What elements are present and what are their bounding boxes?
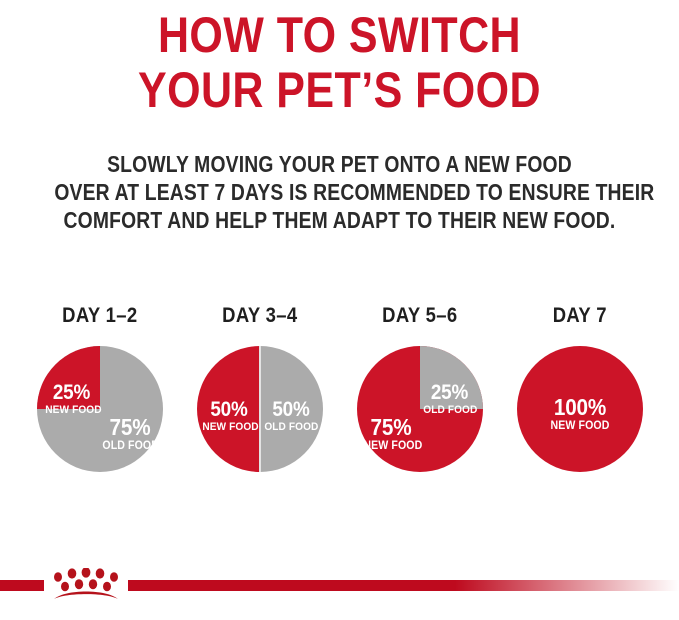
pie-group-day-7: DAY 7 100% NEW FOOD	[500, 305, 660, 472]
pie-group-day-5-6: DAY 5–6 25% OLD FOOD 75% NEW FOOD	[340, 305, 500, 472]
subtitle-line-2: OVER AT LEAST 7 DAYS IS RECOMMENDED TO E…	[54, 178, 624, 206]
pie-group-day-3-4: DAY 3–4 50% NEW FOOD 50% OLD FOOD	[180, 305, 340, 472]
slice-food: OLD FOOD	[102, 441, 157, 453]
pie-slice-label-new-food: 75% NEW FOOD	[361, 416, 421, 453]
pie-group-day-1-2: DAY 1–2 25% NEW FOOD 75% OLD FOOD	[20, 305, 180, 472]
slice-percent: 50%	[202, 399, 254, 420]
royal-canin-crown-icon	[46, 568, 126, 602]
day-label-3: DAY 5–6	[382, 305, 457, 327]
title-line-1: HOW TO SWITCH	[48, 8, 632, 63]
slice-percent: 75%	[103, 416, 157, 439]
slice-food: NEW FOOD	[202, 422, 255, 433]
slice-food: NEW FOOD	[45, 405, 97, 416]
slice-food: OLD FOOD	[423, 405, 475, 416]
slice-food: NEW FOOD	[543, 421, 617, 433]
pie-slice-label-new-food: 100% NEW FOOD	[540, 396, 620, 433]
pie-slice-label-old-food: 25% OLD FOOD	[421, 382, 478, 416]
slice-food: OLD FOOD	[264, 422, 317, 433]
day-label-4: DAY 7	[552, 305, 606, 327]
pie-slice-label-old-food: 50% OLD FOOD	[262, 399, 320, 433]
pie-chart-day-1-2: 25% NEW FOOD 75% OLD FOOD	[37, 346, 163, 472]
page-title: HOW TO SWITCH YOUR PET’S FOOD	[0, 8, 679, 118]
title-line-2: YOUR PET’S FOOD	[48, 63, 632, 118]
slice-percent: 75%	[364, 416, 418, 439]
pie-slice-label-old-food: 75% OLD FOOD	[100, 416, 160, 453]
slice-percent: 50%	[264, 399, 316, 420]
slice-percent: 25%	[45, 382, 96, 403]
pie-slice-label-new-food: 50% NEW FOOD	[200, 399, 258, 433]
slice-food: NEW FOOD	[363, 441, 418, 453]
pie-chart-day-5-6: 25% OLD FOOD 75% NEW FOOD	[357, 346, 483, 472]
subtitle: SLOWLY MOVING YOUR PET ONTO A NEW FOOD O…	[0, 150, 679, 234]
footer	[0, 568, 679, 602]
pie-chart-day-7: 100% NEW FOOD	[517, 346, 643, 472]
pie-chart-day-3-4: 50% NEW FOOD 50% OLD FOOD	[197, 346, 323, 472]
infographic-page: { "title": { "line1": "HOW TO SWITCH", "…	[0, 0, 679, 620]
pie-chart-row: DAY 1–2 25% NEW FOOD 75% OLD FOOD DAY 3–…	[0, 305, 679, 485]
day-label-1: DAY 1–2	[62, 305, 137, 327]
subtitle-line-1: SLOWLY MOVING YOUR PET ONTO A NEW FOOD	[54, 150, 624, 178]
pie-slice-label-new-food: 25% NEW FOOD	[43, 382, 100, 416]
pie-divider	[259, 346, 261, 472]
subtitle-line-3: COMFORT AND HELP THEM ADAPT TO THEIR NEW…	[54, 206, 624, 234]
slice-percent: 25%	[423, 382, 474, 403]
slice-percent: 100%	[544, 396, 616, 419]
day-label-2: DAY 3–4	[222, 305, 297, 327]
